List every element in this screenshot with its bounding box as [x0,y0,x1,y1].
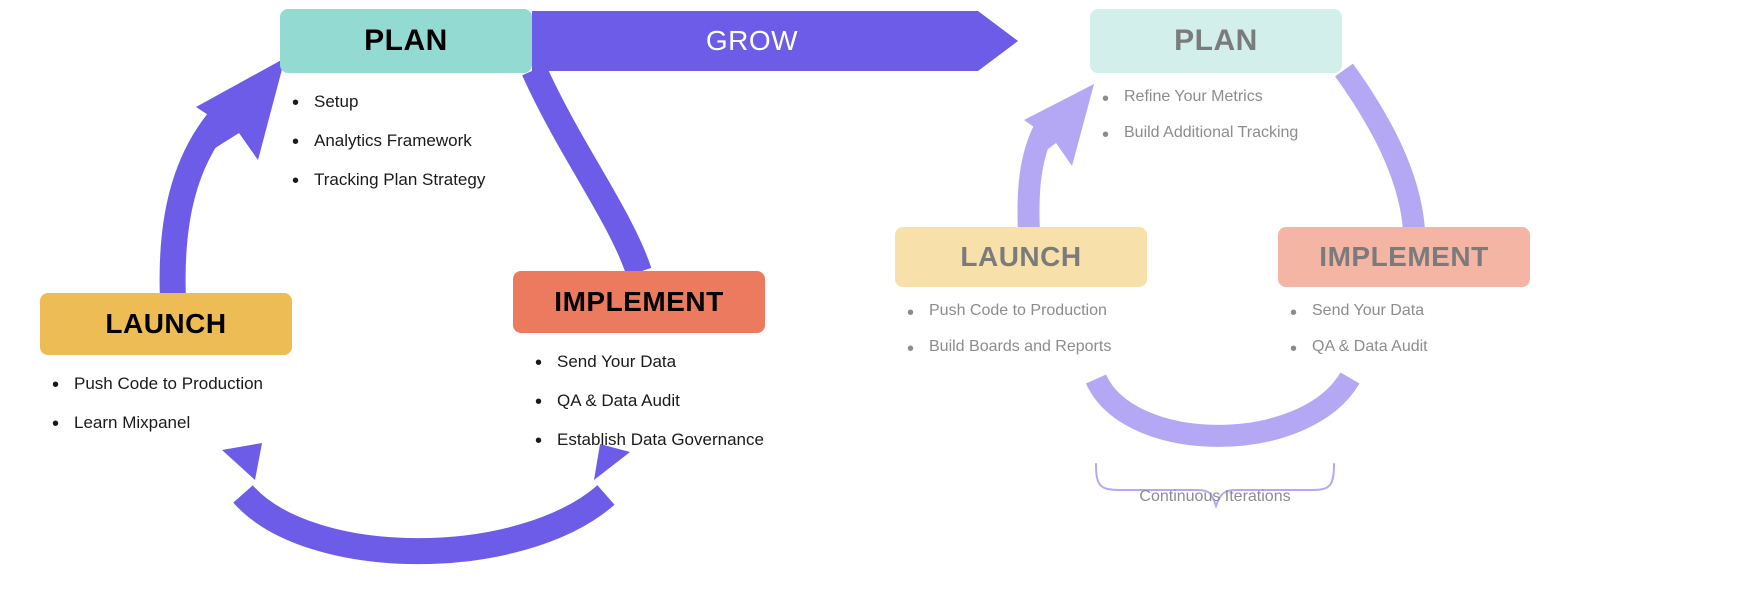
bullet-label: QA & Data Audit [1312,337,1530,357]
list-item: • Build Boards and Reports [907,337,1147,362]
phase-launch-cycle-two: LAUNCH • Push Code to Production • Build… [895,227,1147,373]
diagram-canvas: GROW PLAN • Setup • Analytics Framework … [0,0,1740,589]
arrow-plan-to-implement-left [534,70,639,272]
list-item: • QA & Data Audit [535,390,765,415]
list-item: • Establish Data Governance [535,429,765,454]
bullet-label: Setup [314,91,532,112]
phase-launch-cycle-one-title: LAUNCH [40,293,292,355]
phase-implement-cycle-one: IMPLEMENT • Send Your Data • QA & Data A… [513,271,765,468]
phase-plan-cycle-two: PLAN • Refine Your Metrics • Build Addit… [1090,9,1342,159]
list-item: • Learn Mixpanel [52,412,292,437]
list-item: • Push Code to Production [907,301,1147,326]
bullet-label: Tracking Plan Strategy [314,169,532,190]
list-item: • Analytics Framework [292,130,532,155]
phase-implement-cycle-one-title: IMPLEMENT [513,271,765,333]
phase-launch-cycle-one: LAUNCH • Push Code to Production • Learn… [40,293,292,451]
bullet-icon: • [292,169,314,194]
list-item: • Push Code to Production [52,373,292,398]
phase-plan-cycle-two-bullets: • Refine Your Metrics • Build Additional… [1090,87,1342,148]
bullet-label: Learn Mixpanel [74,412,292,433]
list-item: • QA & Data Audit [1290,337,1530,362]
bullet-icon: • [907,337,929,362]
list-item: • Tracking Plan Strategy [292,169,532,194]
arrow-launch-to-plan-right [1024,84,1094,233]
bullet-icon: • [52,373,74,398]
bullet-icon: • [1102,123,1124,148]
bullet-icon: • [1102,87,1124,112]
phase-implement-cycle-one-bullets: • Send Your Data • QA & Data Audit • Est… [513,351,765,454]
phase-plan-cycle-one: PLAN • Setup • Analytics Framework • Tra… [280,9,532,208]
bullet-label: Build Additional Tracking [1124,123,1342,143]
list-item: • Refine Your Metrics [1102,87,1342,112]
bullet-label: Push Code to Production [74,373,292,394]
phase-plan-cycle-one-bullets: • Setup • Analytics Framework • Tracking… [280,91,532,194]
phase-implement-cycle-two-bullets: • Send Your Data • QA & Data Audit [1278,301,1530,362]
phase-launch-cycle-two-title: LAUNCH [895,227,1147,287]
grow-banner-label: GROW [532,11,972,71]
grow-banner: GROW [532,11,1018,71]
bullet-icon: • [535,390,557,415]
phase-implement-cycle-two: IMPLEMENT • Send Your Data • QA & Data A… [1278,227,1530,373]
arrow-plan-to-implement-right [1344,70,1414,230]
phase-launch-cycle-two-bullets: • Push Code to Production • Build Boards… [895,301,1147,362]
list-item: • Send Your Data [1290,301,1530,326]
bullet-label: Push Code to Production [929,301,1147,321]
bullet-label: Establish Data Governance [557,429,765,450]
bullet-label: QA & Data Audit [557,390,765,411]
bullet-icon: • [535,429,557,454]
bullet-label: Build Boards and Reports [929,337,1147,357]
bullet-label: Send Your Data [557,351,765,372]
bullet-icon: • [1290,337,1312,362]
bullet-icon: • [292,130,314,155]
bullet-icon: • [535,351,557,376]
list-item: • Send Your Data [535,351,765,376]
bullet-label: Refine Your Metrics [1124,87,1342,107]
arrow-implement-to-launch-right [1096,378,1350,436]
bullet-icon: • [52,412,74,437]
bullet-label: Analytics Framework [314,130,532,151]
bullet-label: Send Your Data [1312,301,1530,321]
phase-plan-cycle-one-title: PLAN [280,9,532,73]
bullet-icon: • [1290,301,1312,326]
bullet-icon: • [292,91,314,116]
arrow-launch-to-plan-left [173,58,285,300]
list-item: • Build Additional Tracking [1102,123,1342,148]
list-item: • Setup [292,91,532,116]
phase-implement-cycle-two-title: IMPLEMENT [1278,227,1530,287]
continuous-iterations-caption: Continuous Iterations [1060,488,1370,506]
phase-launch-cycle-one-bullets: • Push Code to Production • Learn Mixpan… [40,373,292,437]
bullet-icon: • [907,301,929,326]
phase-plan-cycle-two-title: PLAN [1090,9,1342,73]
